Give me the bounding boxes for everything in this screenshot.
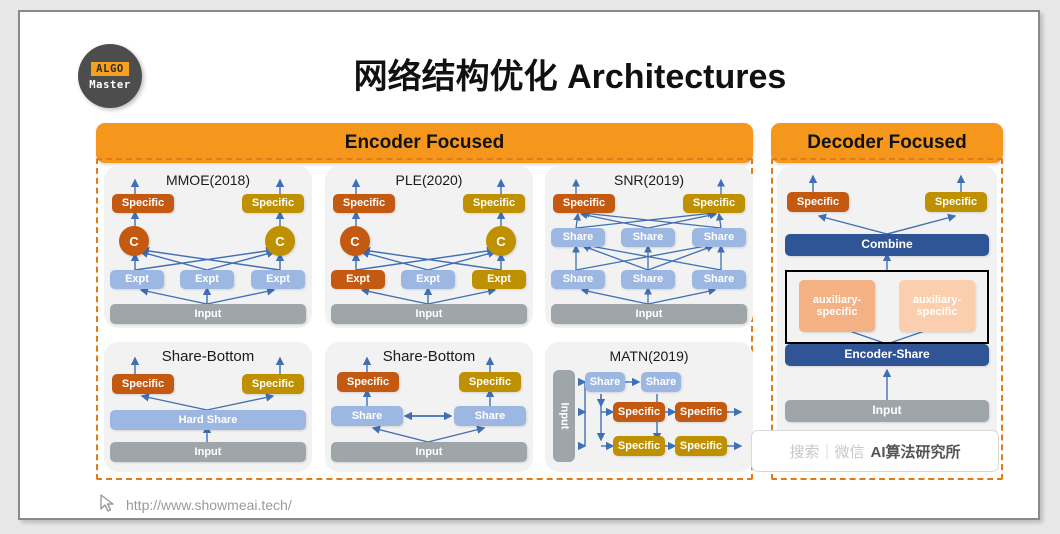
logo-master-text: Master [89, 79, 131, 91]
snr-share-bottom-3[interactable]: Share [692, 270, 746, 289]
matn-share-2[interactable]: Share [641, 372, 681, 392]
panel-share-bottom-hard: Share-Bottom Specific Specific Hard Shar… [104, 342, 312, 472]
ple-input[interactable]: Input [331, 304, 527, 324]
snr-share-top-1[interactable]: Share [551, 228, 605, 247]
logo-algo-badge: ALGO [91, 62, 129, 76]
section-header-decoder-focused: Decoder Focused [771, 123, 1003, 163]
mmoe-gate-left[interactable]: C [119, 226, 149, 256]
ple-gate-right[interactable]: C [486, 226, 516, 256]
decoder-auxiliary-specific-right[interactable]: auxiliary- specific [899, 280, 975, 332]
share-bottom-dual-specific-right[interactable]: Specific [459, 372, 521, 392]
watermark-badge: 搜索｜微信 AI算法研究所 [751, 430, 999, 472]
panel-title-mmoe: MMOE(2018) [104, 172, 312, 188]
panel-share-bottom-dual: Share-Bottom Specific Specific Share Sha… [325, 342, 533, 472]
panel-title-share-bottom-dual: Share-Bottom [325, 348, 533, 365]
algo-master-logo: ALGO Master [78, 44, 142, 108]
share-bottom-hard-share[interactable]: Hard Share [110, 410, 306, 430]
share-bottom-hard-specific-left[interactable]: Specific [112, 374, 174, 394]
panel-mmoe: MMOE(2018) Specific Specific C [104, 166, 312, 328]
decoder-specific-left[interactable]: Specific [787, 192, 849, 212]
snr-input[interactable]: Input [551, 304, 747, 324]
panel-title-ple: PLE(2020) [325, 172, 533, 188]
share-bottom-dual-share-right[interactable]: Share [454, 406, 526, 426]
slide-canvas: ALGO Master 网络结构优化 Architectures Encoder… [18, 10, 1040, 520]
panel-ple: PLE(2020) Specific Specific C C Expt [325, 166, 533, 328]
mmoe-expert-3[interactable]: Expt [251, 270, 305, 289]
mmoe-expert-1[interactable]: Expt [110, 270, 164, 289]
panel-title-matn: MATN(2019) [545, 348, 753, 364]
section-header-encoder-focused: Encoder Focused [96, 123, 753, 163]
matn-specific-top-left[interactable]: Specific [613, 402, 665, 422]
snr-share-top-3[interactable]: Share [692, 228, 746, 247]
mmoe-input[interactable]: Input [110, 304, 306, 324]
decoder-auxiliary-specific-left[interactable]: auxiliary- specific [799, 280, 875, 332]
panel-title-share-bottom-hard: Share-Bottom [104, 348, 312, 365]
panel-matn: MATN(2019) Input Share Sha [545, 342, 753, 472]
cursor-icon [98, 493, 118, 518]
panel-decoder: Specific Specific Combine auxiliary- spe… [777, 166, 997, 472]
footer-url: http://www.showmeai.tech/ [126, 497, 292, 513]
ple-expert-2[interactable]: Expt [401, 270, 455, 289]
mmoe-specific-left[interactable]: Specific [112, 194, 174, 213]
matn-specific-top-right[interactable]: Specific [675, 402, 727, 422]
share-bottom-hard-specific-right[interactable]: Specific [242, 374, 304, 394]
snr-specific-left[interactable]: Specific [553, 194, 615, 213]
share-bottom-dual-specific-left[interactable]: Specific [337, 372, 399, 392]
matn-input-label: Input [558, 403, 570, 430]
share-bottom-dual-share-left[interactable]: Share [331, 406, 403, 426]
ple-specific-right[interactable]: Specific [463, 194, 525, 213]
panel-snr: SNR(2019) [545, 166, 753, 328]
snr-share-bottom-1[interactable]: Share [551, 270, 605, 289]
matn-input[interactable]: Input [553, 370, 575, 462]
decoder-combine[interactable]: Combine [785, 234, 989, 256]
matn-specific-bottom-left[interactable]: Specific [613, 436, 665, 456]
matn-specific-bottom-right[interactable]: Specific [675, 436, 727, 456]
mmoe-specific-right[interactable]: Specific [242, 194, 304, 213]
matn-share-1[interactable]: Share [585, 372, 625, 392]
snr-share-bottom-2[interactable]: Share [621, 270, 675, 289]
snr-share-top-2[interactable]: Share [621, 228, 675, 247]
watermark-light-text: 搜索｜微信 [789, 441, 864, 462]
mmoe-expert-2[interactable]: Expt [180, 270, 234, 289]
panel-title-snr: SNR(2019) [545, 172, 753, 188]
ple-specific-left[interactable]: Specific [333, 194, 395, 213]
share-bottom-hard-input[interactable]: Input [110, 442, 306, 462]
page-title: 网络结构优化 Architectures [230, 52, 910, 102]
footer-bar: http://www.showmeai.tech/ [98, 492, 598, 518]
share-bottom-dual-input[interactable]: Input [331, 442, 527, 462]
decoder-input[interactable]: Input [785, 400, 989, 422]
mmoe-gate-right[interactable]: C [265, 226, 295, 256]
ple-expert-3[interactable]: Expt [472, 270, 526, 289]
ple-expert-1[interactable]: Expt [331, 270, 385, 289]
decoder-specific-right[interactable]: Specific [925, 192, 987, 212]
ple-gate-left[interactable]: C [340, 226, 370, 256]
decoder-encoder-share[interactable]: Encoder-Share [785, 344, 989, 366]
snr-specific-right[interactable]: Specific [683, 194, 745, 213]
watermark-bold-text: AI算法研究所 [871, 441, 961, 462]
